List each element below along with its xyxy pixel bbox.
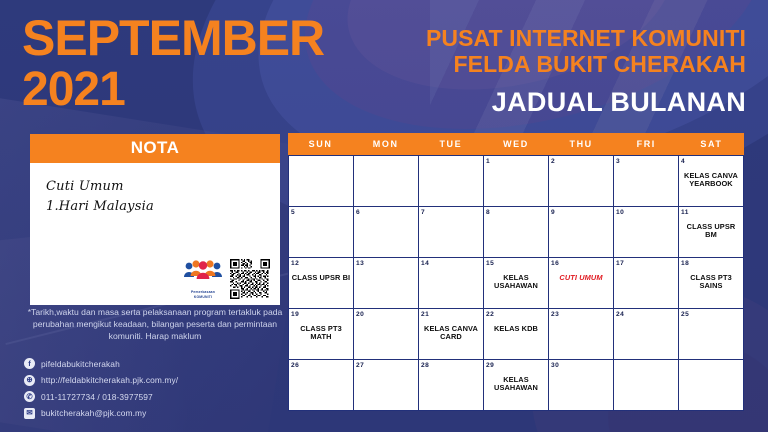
day-number: 19	[291, 312, 351, 319]
day-number: 15	[486, 261, 546, 268]
day-number: 20	[356, 312, 416, 319]
calendar-cell-3[interactable]: 3	[614, 156, 679, 207]
day-number: 17	[616, 261, 676, 268]
facebook-icon: f	[24, 358, 35, 369]
calendar-cell-17[interactable]: 17	[614, 258, 679, 309]
organization-title-block: PUSAT INTERNET KOMUNITI FELDA BUKIT CHER…	[326, 26, 746, 118]
day-number: 3	[616, 159, 676, 166]
calendar-cell-27[interactable]: 27	[354, 360, 419, 411]
calendar-cell-23[interactable]: 23	[549, 309, 614, 360]
calendar-cell-13[interactable]: 13	[354, 258, 419, 309]
calendar-cell-14[interactable]: 14	[419, 258, 484, 309]
nota-note-line-2: 1.Hari Malaysia	[46, 197, 266, 217]
calendar-cell-16[interactable]: 16CUTI UMUM	[549, 258, 614, 309]
day-number: 18	[681, 261, 741, 268]
nota-branding: Pemerkasaan KOMUNITI	[183, 259, 270, 299]
calendar-cell-1[interactable]: 1	[484, 156, 549, 207]
nota-panel: NOTA Cuti Umum 1.Hari Malaysia Pemerkasa	[30, 134, 280, 305]
contact-row-email[interactable]: ✉ bukitcherakah@pjk.com.my	[24, 408, 178, 419]
day-number: 26	[291, 363, 351, 370]
day-header-fri: FRI	[614, 133, 679, 155]
day-number: 29	[486, 363, 546, 370]
calendar-cell-15[interactable]: 15KELAS USAHAWAN	[484, 258, 549, 309]
event-label: KELAS USAHAWAN	[486, 274, 546, 291]
calendar-cell-empty	[354, 156, 419, 207]
contact-email-text: bukitcherakah@pjk.com.my	[41, 408, 146, 418]
contact-row-website[interactable]: ⊕ http://feldabkitcherakah.pjk.com.my/	[24, 375, 178, 386]
day-header-tue: TUE	[418, 133, 483, 155]
calendar-cell-empty	[679, 360, 744, 411]
calendar-cell-empty	[289, 156, 354, 207]
calendar-cell-11[interactable]: 11CLASS UPSR BM	[679, 207, 744, 258]
day-number: 30	[551, 363, 611, 370]
day-number: 27	[356, 363, 416, 370]
event-label: CLASS UPSR BI	[291, 274, 351, 282]
calendar-cell-29[interactable]: 29KELAS USAHAWAN	[484, 360, 549, 411]
contact-row-facebook[interactable]: f pifeldabukitcherakah	[24, 358, 178, 369]
calendar-cell-empty	[614, 360, 679, 411]
calendar-grid: 1234KELAS CANVA YEARBOOK567891011CLASS U…	[288, 155, 744, 411]
day-header-sat: SAT	[679, 133, 744, 155]
event-label: CLASS PT3 MATH	[291, 325, 351, 342]
calendar-cell-21[interactable]: 21KELAS CANVA CARD	[419, 309, 484, 360]
calendar-cell-19[interactable]: 19CLASS PT3 MATH	[289, 309, 354, 360]
calendar: SUN MON TUE WED THU FRI SAT 1234KELAS CA…	[288, 133, 744, 411]
komuniti-logo: Pemerkasaan KOMUNITI	[183, 259, 223, 299]
whatsapp-icon: ✆	[24, 391, 35, 402]
event-label: KELAS CANVA CARD	[421, 325, 481, 342]
day-number: 7	[421, 210, 481, 217]
schedule-subtitle: JADUAL BULANAN	[326, 87, 746, 118]
calendar-cell-22[interactable]: 22KELAS KDB	[484, 309, 549, 360]
day-number: 4	[681, 159, 741, 166]
calendar-cell-10[interactable]: 10	[614, 207, 679, 258]
day-number: 25	[681, 312, 741, 319]
day-number: 2	[551, 159, 611, 166]
calendar-cell-12[interactable]: 12CLASS UPSR BI	[289, 258, 354, 309]
month-title-block: SEPTEMBER 2021	[22, 14, 362, 115]
calendar-cell-18[interactable]: 18CLASS PT3 SAINS	[679, 258, 744, 309]
day-header-mon: MON	[353, 133, 418, 155]
calendar-cell-6[interactable]: 6	[354, 207, 419, 258]
contact-facebook-text: pifeldabukitcherakah	[41, 359, 120, 369]
calendar-cell-28[interactable]: 28	[419, 360, 484, 411]
contact-list: f pifeldabukitcherakah ⊕ http://feldabki…	[24, 358, 178, 424]
holiday-label: CUTI UMUM	[551, 274, 611, 282]
day-number: 28	[421, 363, 481, 370]
mail-icon: ✉	[24, 408, 35, 419]
day-number: 24	[616, 312, 676, 319]
day-number: 11	[681, 210, 741, 217]
calendar-cell-9[interactable]: 9	[549, 207, 614, 258]
calendar-cell-empty	[419, 156, 484, 207]
nota-note-line-1: Cuti Umum	[46, 177, 266, 197]
org-name-line-1: PUSAT INTERNET KOMUNITI	[326, 26, 746, 52]
event-label: CLASS PT3 SAINS	[681, 274, 741, 291]
day-number: 14	[421, 261, 481, 268]
day-number: 22	[486, 312, 546, 319]
event-label: KELAS USAHAWAN	[486, 376, 546, 393]
nota-body: Cuti Umum 1.Hari Malaysia Pemerkasaan K	[30, 163, 280, 305]
calendar-cell-5[interactable]: 5	[289, 207, 354, 258]
day-number: 8	[486, 210, 546, 217]
calendar-cell-4[interactable]: 4KELAS CANVA YEARBOOK	[679, 156, 744, 207]
calendar-day-headers: SUN MON TUE WED THU FRI SAT	[288, 133, 744, 155]
day-number: 5	[291, 210, 351, 217]
qr-code-icon[interactable]	[230, 259, 270, 299]
nota-heading: NOTA	[30, 134, 280, 163]
org-name-line-2: FELDA BUKIT CHERAKAH	[326, 52, 746, 78]
calendar-cell-30[interactable]: 30	[549, 360, 614, 411]
people-group-icon	[183, 259, 223, 285]
day-number: 21	[421, 312, 481, 319]
day-number: 6	[356, 210, 416, 217]
calendar-cell-7[interactable]: 7	[419, 207, 484, 258]
day-number: 23	[551, 312, 611, 319]
day-header-thu: THU	[549, 133, 614, 155]
calendar-cell-24[interactable]: 24	[614, 309, 679, 360]
calendar-cell-2[interactable]: 2	[549, 156, 614, 207]
globe-icon: ⊕	[24, 375, 35, 386]
contact-phone-text: 011-11727734 / 018-3977597	[41, 392, 153, 402]
calendar-cell-25[interactable]: 25	[679, 309, 744, 360]
event-label: KELAS CANVA YEARBOOK	[681, 172, 741, 189]
day-number: 13	[356, 261, 416, 268]
day-header-wed: WED	[483, 133, 548, 155]
calendar-cell-26[interactable]: 26	[289, 360, 354, 411]
day-number: 1	[486, 159, 546, 166]
month-year: 2021	[22, 65, 362, 115]
day-number: 12	[291, 261, 351, 268]
day-number: 10	[616, 210, 676, 217]
event-label: KELAS KDB	[486, 325, 546, 333]
event-label: CLASS UPSR BM	[681, 223, 741, 240]
day-header-sun: SUN	[288, 133, 353, 155]
day-number: 9	[551, 210, 611, 217]
calendar-cell-8[interactable]: 8	[484, 207, 549, 258]
calendar-cell-20[interactable]: 20	[354, 309, 419, 360]
disclaimer-text: *Tarikh,waktu dan masa serta pelaksanaan…	[24, 306, 286, 343]
komuniti-caption-big: KOMUNITI	[183, 295, 223, 299]
contact-row-phone[interactable]: ✆ 011-11727734 / 018-3977597	[24, 391, 178, 402]
month-name: SEPTEMBER	[22, 14, 362, 63]
day-number: 16	[551, 261, 611, 268]
contact-website-text: http://feldabkitcherakah.pjk.com.my/	[41, 375, 178, 385]
